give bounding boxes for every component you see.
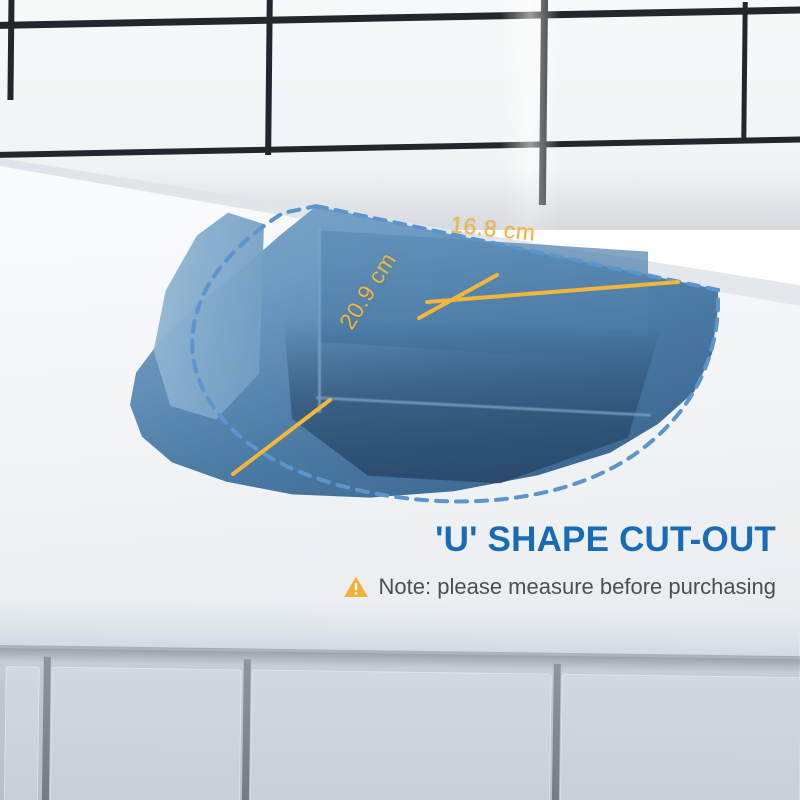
- product-illustration: 16.8 cm 20.9 cm 'U' SHAPE CUT-OUT Note: …: [0, 0, 800, 800]
- warning-triangle-icon: [343, 575, 369, 599]
- cabinet-door: [4, 666, 40, 800]
- tile-grout-line: [0, 5, 800, 29]
- u-shape-cutout: [118, 200, 718, 520]
- cabinet-door: [250, 670, 552, 800]
- headline-text: 'U' SHAPE CUT-OUT: [0, 520, 800, 560]
- base-cabinets: [0, 648, 800, 800]
- cutout-outline: [118, 200, 718, 520]
- tile-grout-line: [265, 0, 273, 155]
- caption-block: 'U' SHAPE CUT-OUT Note: please measure b…: [0, 520, 800, 600]
- note-row: Note: please measure before purchasing: [0, 574, 800, 600]
- tile-grout-line: [741, 2, 747, 142]
- note-text: Note: please measure before purchasing: [379, 574, 776, 600]
- tile-grout-line: [7, 0, 14, 100]
- tile-grout-line: [0, 135, 800, 158]
- cabinet-door: [560, 674, 800, 800]
- cabinet-door: [50, 667, 242, 800]
